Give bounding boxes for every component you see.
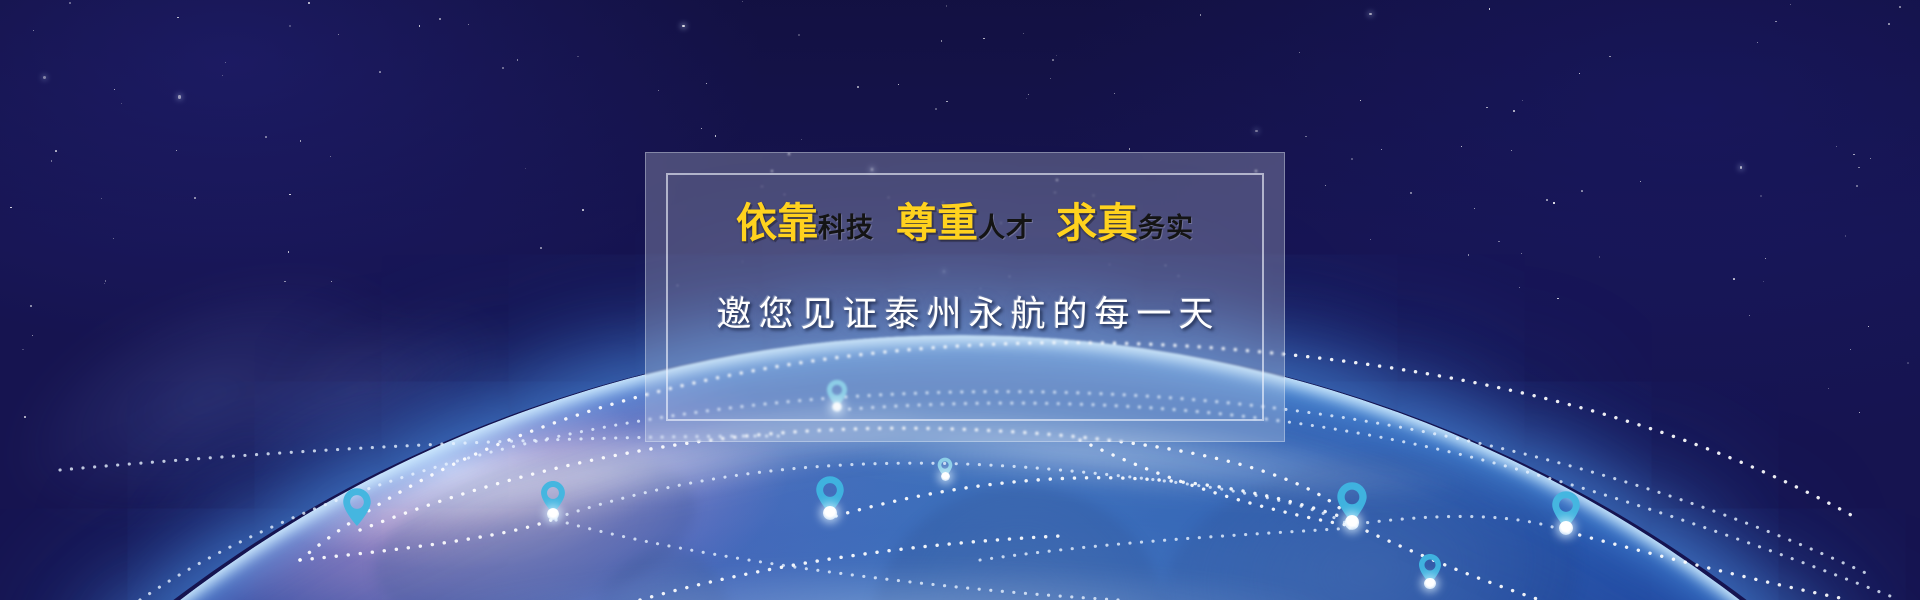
star <box>946 101 948 103</box>
headline-segment-人才: 人才 <box>978 213 1034 244</box>
slogan-headline: 依靠科技尊重人才求真务实 <box>646 203 1284 244</box>
headline-segment-依靠: 依靠 <box>736 199 818 247</box>
star <box>1775 21 1777 23</box>
star <box>1790 4 1791 5</box>
star <box>1486 107 1487 108</box>
star <box>1360 100 1361 101</box>
hero-banner: .rt{fill:none;stroke:#ffffff;stroke-widt… <box>0 0 1920 600</box>
star <box>1461 146 1462 147</box>
star <box>55 150 57 152</box>
headline-segment-尊重: 尊重 <box>896 199 978 247</box>
star <box>178 95 181 98</box>
star <box>300 140 302 142</box>
star <box>24 416 26 418</box>
headline-segment-求真: 求真 <box>1056 199 1138 247</box>
star <box>1845 235 1846 236</box>
star <box>742 1 743 2</box>
star <box>1856 185 1857 186</box>
map-pin-glow-dot <box>1345 515 1360 530</box>
star <box>1522 100 1524 102</box>
star <box>801 139 803 141</box>
star <box>1899 6 1901 8</box>
star <box>1114 93 1115 94</box>
star <box>1381 149 1382 150</box>
star <box>1255 130 1258 133</box>
star <box>1868 326 1869 327</box>
star <box>101 198 102 199</box>
star <box>1581 190 1583 192</box>
star <box>1760 195 1762 197</box>
star <box>30 305 32 307</box>
star <box>1907 362 1909 364</box>
star <box>1023 33 1024 34</box>
star <box>1888 23 1890 25</box>
star <box>1836 146 1837 147</box>
star <box>265 136 267 138</box>
star <box>1609 56 1611 58</box>
star <box>331 281 332 282</box>
star <box>1325 185 1326 186</box>
star <box>194 197 196 199</box>
star <box>114 89 115 90</box>
star <box>1749 315 1750 316</box>
star <box>1052 59 1054 61</box>
slogan-copy: 依靠科技尊重人才求真务实 邀您见证泰州永航的每一天 <box>646 203 1284 337</box>
star <box>1853 154 1854 155</box>
map-pin-glow-dot <box>1424 578 1435 589</box>
headline-segment-务实: 务实 <box>1138 213 1194 244</box>
star <box>379 71 381 73</box>
star <box>1050 78 1051 79</box>
star <box>468 24 469 25</box>
star <box>525 168 526 169</box>
star <box>330 156 331 157</box>
star <box>33 30 34 31</box>
star <box>1521 253 1523 255</box>
star <box>946 5 948 7</box>
star <box>1740 166 1742 168</box>
star <box>222 75 223 76</box>
star <box>1026 98 1027 99</box>
star <box>1370 239 1371 240</box>
star <box>1733 278 1735 280</box>
star <box>935 108 937 110</box>
star <box>1763 281 1764 282</box>
star <box>10 207 11 208</box>
star <box>1579 73 1580 74</box>
star <box>289 25 290 26</box>
star <box>1519 287 1520 288</box>
slogan-subline: 邀您见证泰州永航的每一天 <box>646 286 1284 337</box>
star <box>857 86 859 88</box>
star <box>1498 241 1500 243</box>
star <box>517 59 519 61</box>
star <box>682 25 684 27</box>
star <box>225 62 226 63</box>
star <box>540 247 542 249</box>
star <box>1513 110 1515 112</box>
star <box>1546 199 1548 201</box>
star <box>898 84 899 85</box>
star <box>577 56 579 58</box>
star <box>1299 52 1300 53</box>
star <box>701 128 702 129</box>
star <box>1511 150 1513 152</box>
star <box>1305 136 1307 138</box>
star <box>502 67 504 69</box>
star <box>1474 208 1475 209</box>
star <box>983 38 985 40</box>
star <box>32 335 34 337</box>
star <box>338 34 339 35</box>
star <box>1553 202 1554 203</box>
star <box>582 209 584 211</box>
star <box>1640 181 1641 182</box>
star <box>1129 148 1131 150</box>
star <box>288 251 290 253</box>
star <box>1757 42 1759 44</box>
star <box>1200 14 1202 16</box>
star <box>1468 254 1470 256</box>
star <box>715 135 717 137</box>
star <box>177 17 178 18</box>
star <box>43 76 46 79</box>
star <box>289 194 291 196</box>
star <box>22 349 24 351</box>
star <box>941 40 942 41</box>
star <box>1351 158 1353 160</box>
star <box>798 34 800 36</box>
star <box>1850 349 1852 351</box>
slogan-panel: 依靠科技尊重人才求真务实 邀您见证泰州永航的每一天 <box>645 152 1285 442</box>
map-pin-glow-dot <box>547 508 559 520</box>
star <box>69 2 71 4</box>
star <box>1599 256 1600 257</box>
star <box>1410 192 1411 193</box>
star <box>1557 298 1558 299</box>
star <box>419 25 421 27</box>
headline-segment-科技: 科技 <box>818 213 874 244</box>
star <box>1859 412 1860 413</box>
star <box>439 18 441 20</box>
star <box>113 238 114 239</box>
star <box>1828 388 1829 389</box>
star <box>706 83 707 84</box>
star <box>176 150 178 152</box>
star <box>1056 55 1057 56</box>
star <box>51 160 53 162</box>
star <box>105 280 106 281</box>
star <box>1765 258 1766 259</box>
star <box>284 281 286 283</box>
map-pin-glow-dot <box>941 472 950 481</box>
star <box>1028 94 1029 95</box>
star <box>308 2 310 4</box>
star <box>104 283 105 284</box>
star <box>121 103 122 104</box>
star <box>1489 8 1491 10</box>
star <box>1870 158 1871 159</box>
star <box>1369 13 1372 16</box>
star <box>658 90 659 91</box>
star <box>1858 167 1860 169</box>
